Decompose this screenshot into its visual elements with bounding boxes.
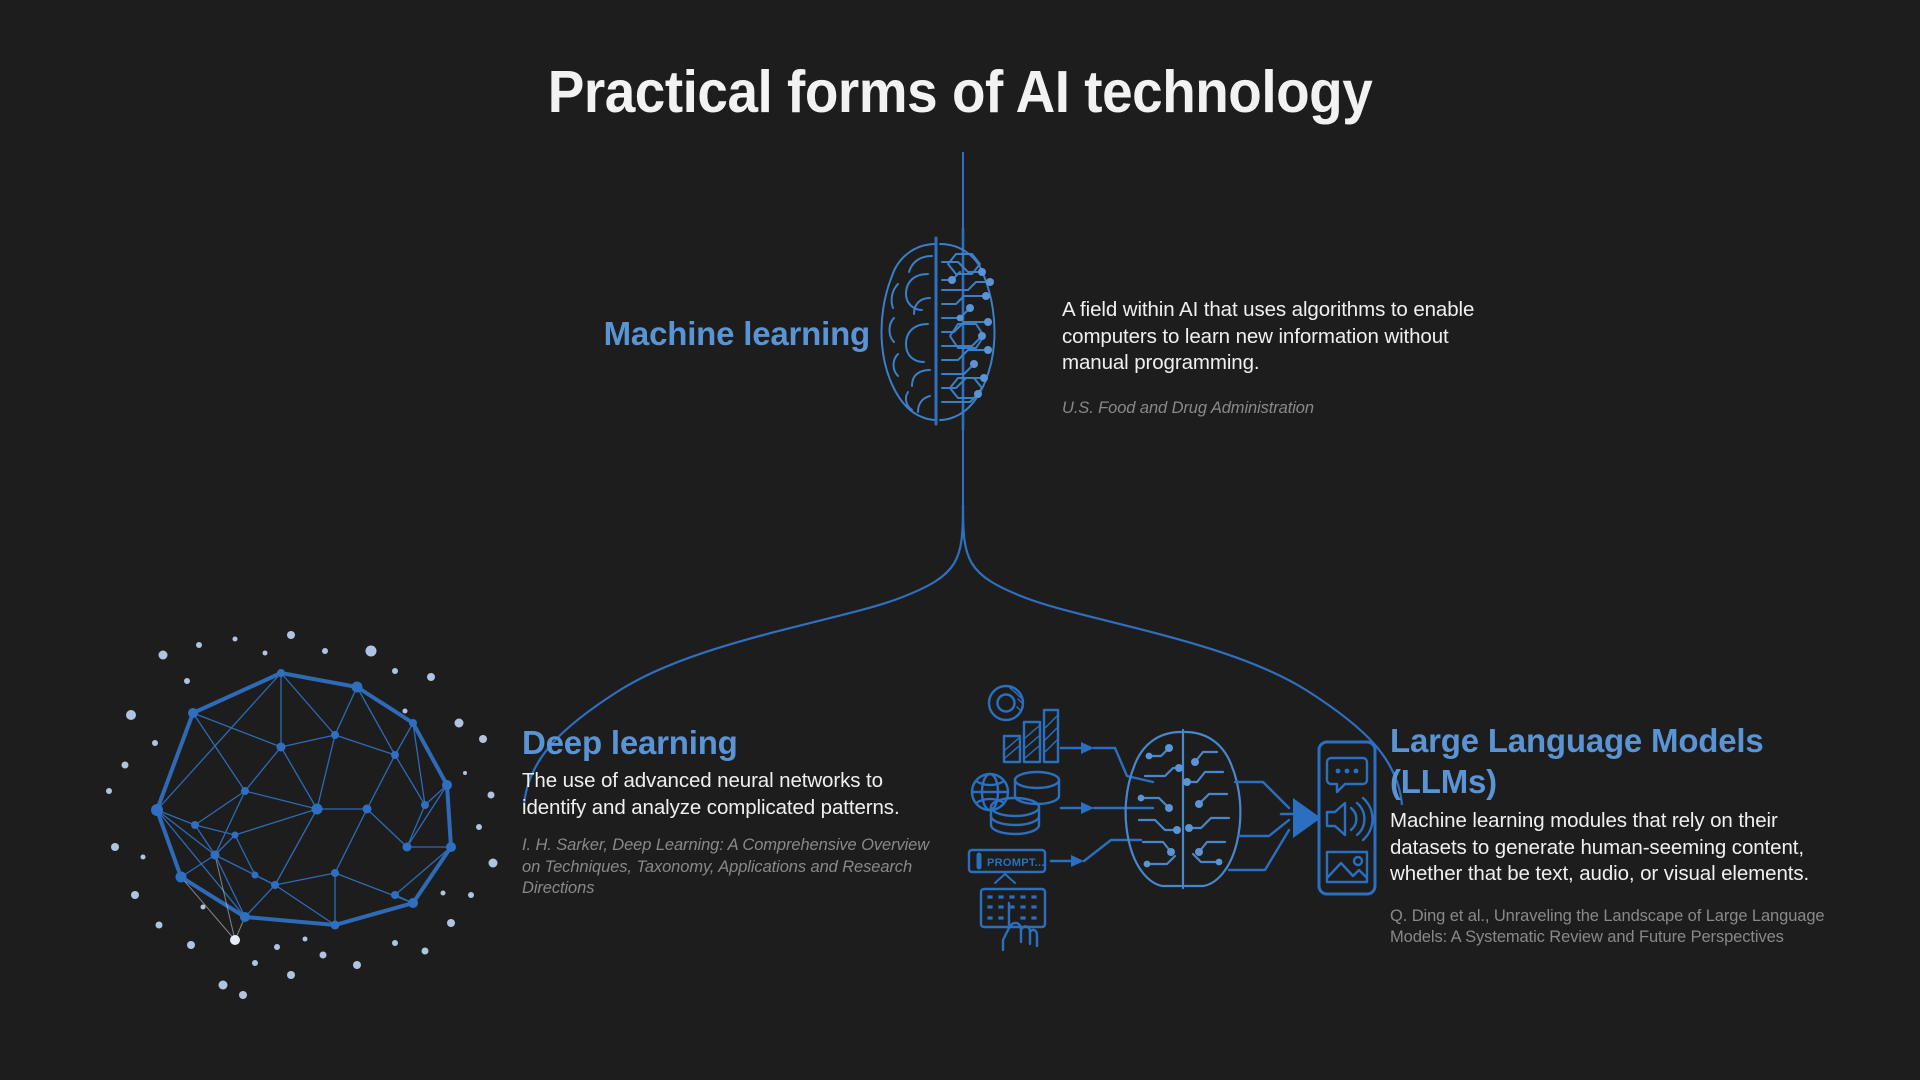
chat-bubble-icon [1327, 758, 1367, 792]
neural-network-mesh-icon [95, 595, 515, 1010]
image-icon [1327, 852, 1367, 882]
deep-learning-text-block: Deep learning The use of advanced neural… [522, 722, 942, 900]
llm-heading: Large Language Models (LLMs) [1390, 720, 1850, 802]
llm-citation: Q. Ding et al., Unraveling the Landscape… [1390, 906, 1850, 949]
deep-learning-citation: I. H. Sarker, Deep Learning: A Comprehen… [522, 835, 942, 900]
prompt-label: PROMPT... [987, 857, 1045, 869]
donut-chart-icon [989, 686, 1023, 720]
machine-learning-heading: Machine learning [530, 315, 870, 353]
deep-learning-description: The use of advanced neural networks to i… [522, 768, 942, 821]
llm-description: Machine learning modules that rely on th… [1390, 808, 1850, 888]
machine-learning-description: A field within AI that uses algorithms t… [1062, 297, 1492, 377]
page-title: Practical forms of AI technology [67, 58, 1853, 126]
infographic-canvas: Practical forms of AI technology Machine… [0, 0, 1920, 1080]
output-panel [1319, 742, 1375, 894]
llm-pipeline-icon: PROMPT... [963, 680, 1383, 952]
keyboard-hand-icon [981, 874, 1045, 950]
globe-icon [972, 774, 1008, 810]
speaker-icon [1327, 798, 1372, 840]
deep-learning-heading: Deep learning [522, 722, 942, 763]
llm-text-block: Large Language Models (LLMs) Machine lea… [1390, 720, 1850, 949]
brain-circuit-icon [872, 228, 1004, 428]
machine-learning-citation: U.S. Food and Drug Administration [1062, 398, 1492, 420]
machine-learning-text-block: A field within AI that uses algorithms t… [1062, 297, 1492, 419]
